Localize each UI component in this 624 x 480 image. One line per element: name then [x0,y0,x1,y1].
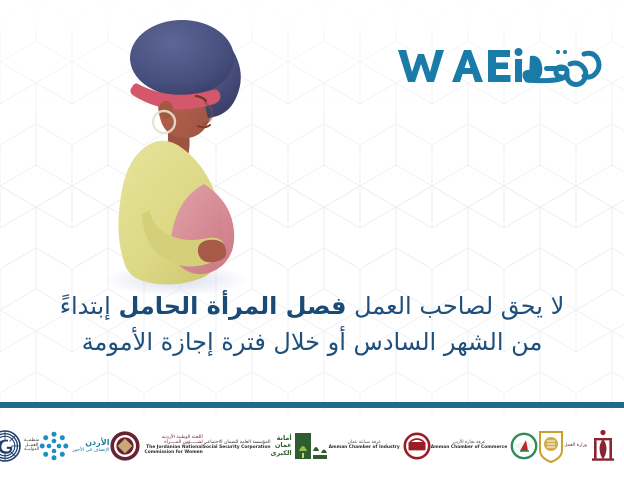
logo-amman-chamber-of-commerce: غرفة تجارة الأردن Amman Chamber of Comme… [431,423,538,469]
aci-label-en: Amman Chamber of Industry [329,446,400,451]
logo-caption: أمانة عمان الكبرى [271,435,292,457]
headline-line-1-before: لا يحق لصاحب العمل [346,292,564,320]
ssc-label-en: Social Security Corporation [203,446,271,451]
waei-wordmark-icon [394,42,602,88]
logo-gold-shield [538,423,564,469]
ministry-of-labour-label-ar: وزارة العمل [564,444,587,449]
logo-caption: غرفة صناعة عمان Amman Chamber of Industr… [329,441,400,451]
headline-line-1: لا يحق لصاحب العمل فصل المرأة الحامل إبت… [18,288,606,324]
logo-caption: وزارة العمل [564,444,587,449]
logo-social-security-corporation: المؤسسة العامة للضمان الاجتماعي Social S… [203,423,271,469]
logo-jordan-pay-equity: الأردن الإنصاف في الأجور [39,423,109,469]
headline: لا يحق لصاحب العمل فصل المرأة الحامل إبت… [0,288,624,361]
brand-logo [394,36,602,88]
logo-greater-amman-municipality: أمانة عمان الكبرى [271,423,329,469]
logo-jncw: اللجنة الوطنية الأردنية لشـــــؤون المــ… [109,423,202,469]
greater-amman-municipality-icon [295,431,329,461]
jncw-label-en-2: Commission for Women [144,451,202,456]
pregnant-woman-illustration [58,18,278,298]
jncw-emblem-icon [109,430,141,462]
headline-line-1-emphasis: فصل المرأة الحامل [118,292,346,320]
awareness-card: لا يحق لصاحب العمل فصل المرأة الحامل إبت… [0,0,624,480]
pay-equity-label-ar-big: الأردن [72,439,109,448]
gold-shield-emblem-icon [538,429,564,463]
amman-chamber-of-commerce-icon [510,432,538,460]
jordan-crown-emblem-icon [590,429,616,463]
logo-ministry-of-labour: وزارة العمل [564,423,616,469]
ilo-label-ar-3: الدوليــة [24,448,39,453]
logo-caption: اللجنة الوطنية الأردنية لشـــــؤون المــ… [144,436,202,455]
ilo-emblem-icon [0,430,21,462]
headline-line-2: من الشهر السادس أو خلال فترة إجازة الأمو… [18,324,606,360]
logo-amman-chamber-of-industry: غرفة صناعة عمان Amman Chamber of Industr… [329,423,431,469]
gam-label-ar-3: الكبرى [271,450,292,457]
partner-logo-strip: وزارة العمل غرفة تجارة الأردن Amman Cham… [0,412,624,480]
headline-line-1-after: إبتداءً [60,292,119,320]
divider-bar [0,402,624,408]
logo-caption: الأردن الإنصاف في الأجور [72,439,109,453]
acc-label-en: Amman Chamber of Commerce [431,446,507,451]
logo-caption: غرفة تجارة الأردن Amman Chamber of Comme… [431,441,507,451]
logo-caption: منظمــة العمــل الدوليــة [24,439,39,454]
logo-ilo: منظمــة العمــل الدوليــة [0,423,39,469]
amman-chamber-of-industry-icon [403,432,431,460]
logo-caption: المؤسسة العامة للضمان الاجتماعي Social S… [203,441,271,451]
pay-equity-dots-icon [39,431,69,461]
pay-equity-label-ar-sm: الإنصاف في الأجور [72,448,109,453]
